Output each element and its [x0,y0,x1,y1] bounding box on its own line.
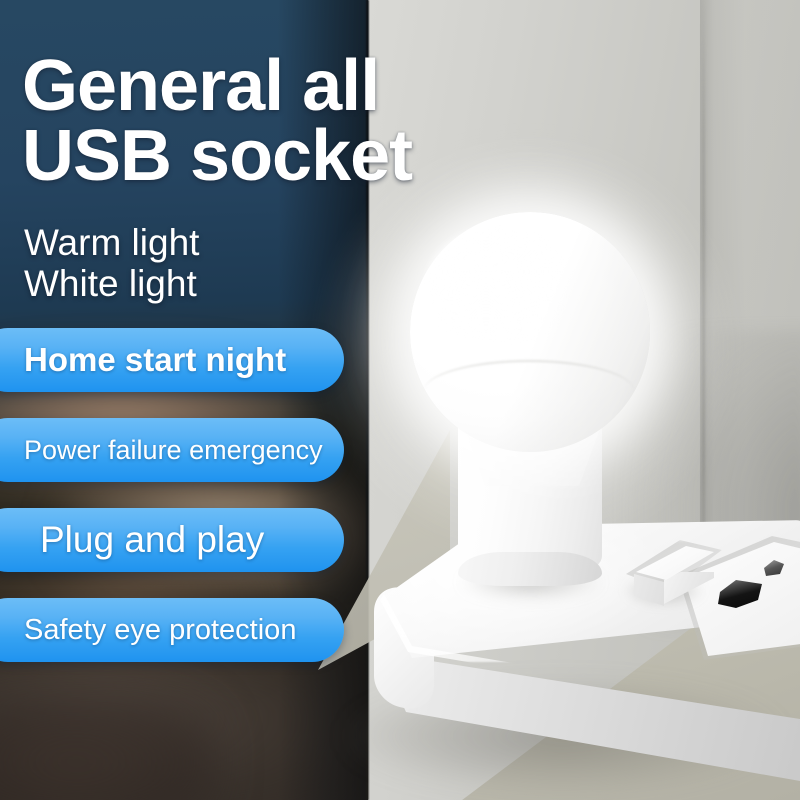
banner-subtitle: Warm light White light [24,222,444,305]
page-title: General all USB socket [22,52,722,192]
bulb-globe-highlight [426,226,576,346]
feature-pill-plug-and-play[interactable]: Plug and play [0,508,344,572]
product-banner: General all USB socket Warm light White … [0,0,800,800]
blurred-dark-corner [0,690,220,800]
feature-pill-label: Power failure emergency [24,435,323,466]
feature-pill-safety-eye-protection[interactable]: Safety eye protection [0,598,344,662]
feature-pill-label: Home start night [24,341,286,379]
bulb-base-bottom-edge [458,552,602,586]
bulb-seam-line [424,360,634,422]
feature-pill-home-start-night[interactable]: Home start night [0,328,344,392]
feature-pill-label: Safety eye protection [24,614,296,647]
feature-pill-power-failure-emergency[interactable]: Power failure emergency [0,418,344,482]
feature-pill-label: Plug and play [24,519,264,561]
